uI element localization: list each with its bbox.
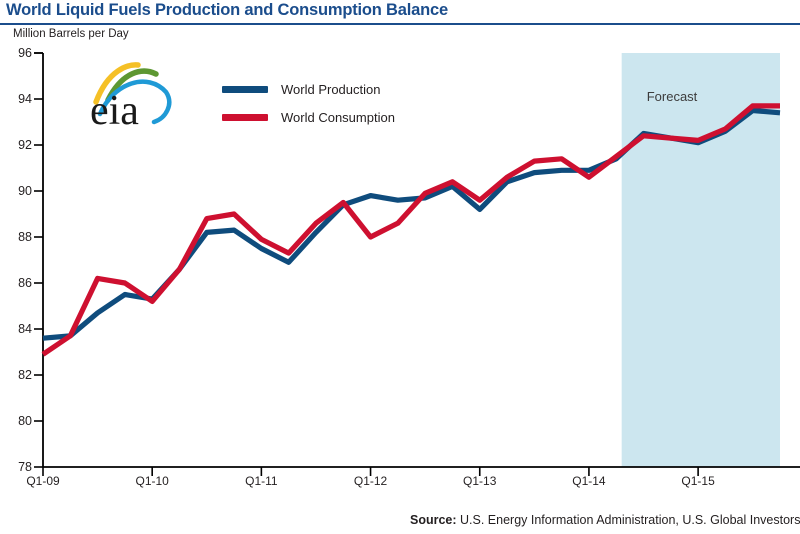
eia-logo-text: eia bbox=[90, 88, 139, 130]
y-tick-label: 88 bbox=[4, 230, 32, 244]
eia-logo: eia bbox=[86, 62, 186, 130]
y-tick-label: 92 bbox=[4, 138, 32, 152]
x-tick-label: Q1-12 bbox=[336, 474, 406, 488]
y-tick-label: 80 bbox=[4, 414, 32, 428]
y-tick-label: 90 bbox=[4, 184, 32, 198]
x-tick-label: Q1-09 bbox=[8, 474, 78, 488]
legend-label: World Production bbox=[281, 82, 380, 97]
x-tick-label: Q1-15 bbox=[663, 474, 733, 488]
x-tick-label: Q1-13 bbox=[445, 474, 515, 488]
y-tick-label: 94 bbox=[4, 92, 32, 106]
source-note: Source: U.S. Energy Information Administ… bbox=[410, 513, 800, 527]
legend-swatch bbox=[222, 86, 268, 93]
forecast-annotation-label: Forecast bbox=[647, 89, 698, 104]
chart-legend: World ProductionWorld Consumption bbox=[222, 78, 395, 134]
y-tick-label: 84 bbox=[4, 322, 32, 336]
legend-swatch bbox=[222, 114, 268, 121]
y-tick-label: 86 bbox=[4, 276, 32, 290]
source-text: U.S. Energy Information Administration, … bbox=[457, 513, 800, 527]
legend-item[interactable]: World Consumption bbox=[222, 106, 395, 128]
y-tick-label: 78 bbox=[4, 460, 32, 474]
x-tick-label: Q1-10 bbox=[117, 474, 187, 488]
x-tick-label: Q1-11 bbox=[226, 474, 296, 488]
source-label: Source: bbox=[410, 513, 457, 527]
legend-item[interactable]: World Production bbox=[222, 78, 395, 100]
forecast-band bbox=[622, 53, 780, 467]
legend-label: World Consumption bbox=[281, 110, 395, 125]
y-tick-label: 96 bbox=[4, 46, 32, 60]
y-tick-label: 82 bbox=[4, 368, 32, 382]
x-tick-label: Q1-14 bbox=[554, 474, 624, 488]
